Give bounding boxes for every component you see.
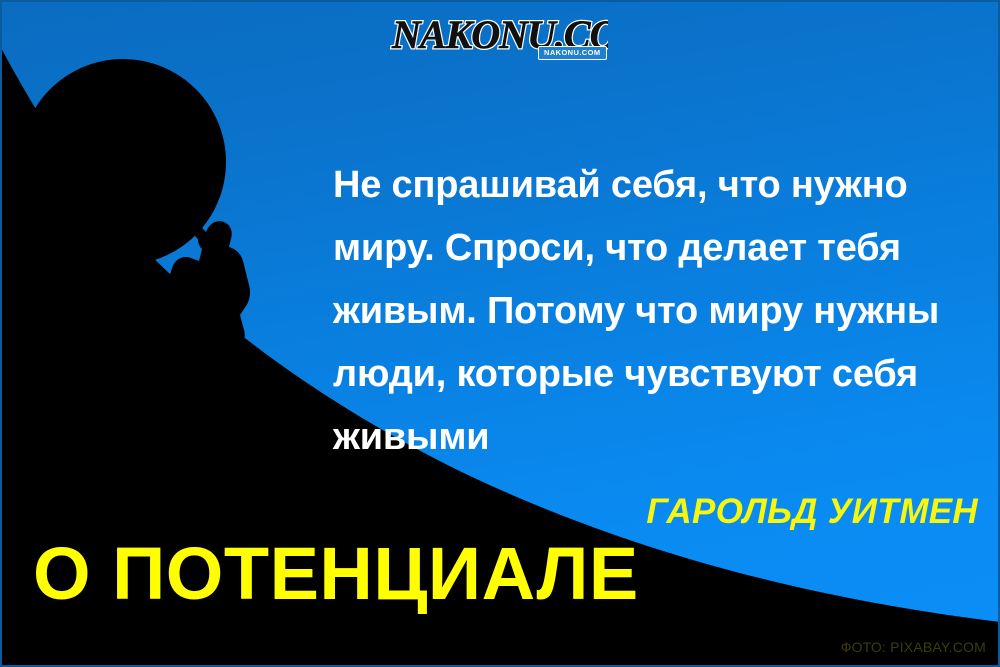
quote-line: люди, которые чувствуют себя [333,343,958,406]
quote-line: живыми [333,406,958,469]
site-logo[interactable]: NAKONU.COM NAKONU.COM NAKONU.COM [388,10,608,66]
quote-line: миру. Спроси, что делает тебя [333,217,958,280]
poster-title: О ПОТЕНЦИАЛЕ [33,537,639,611]
quote-block: Не спрашивай себя, что нужно миру. Спрос… [333,154,958,469]
photo-credit: ФОТО: PIXABAY.COM [841,639,986,655]
logo-badge: NAKONU.COM [538,46,607,60]
quote-poster: NAKONU.COM NAKONU.COM NAKONU.COM Не спра… [0,0,1000,667]
quote-author: ГАРОЛЬД УИТМЕН [646,492,978,532]
quote-line: Не спрашивай себя, что нужно [333,154,958,217]
quote-line: живым. Потому что миру нужны [333,280,958,343]
